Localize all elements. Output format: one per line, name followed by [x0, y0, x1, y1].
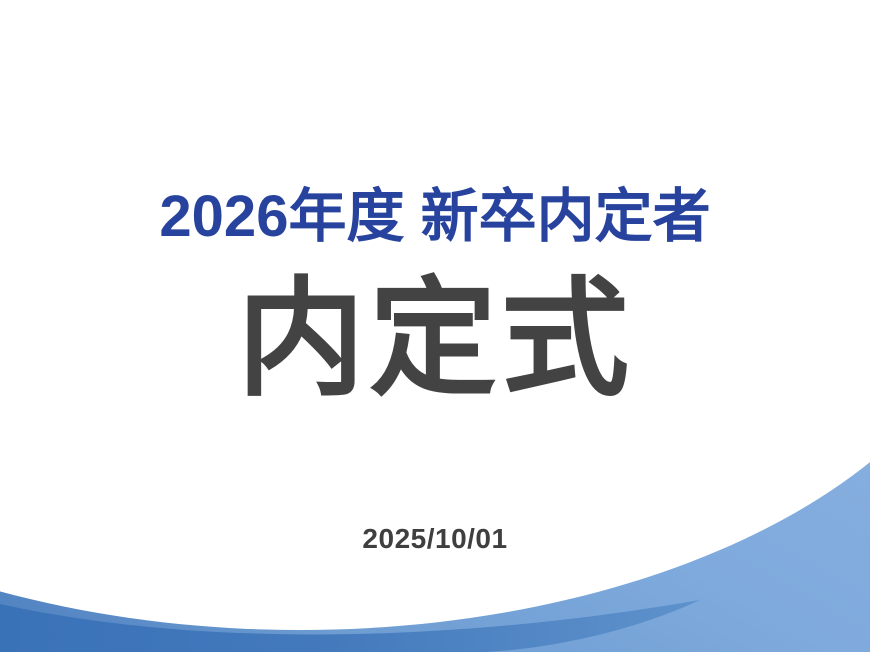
slide-event-date: 2025/10/01 — [0, 522, 870, 556]
slide-subtitle-year-line: 2026年度 新卒内定者 — [0, 186, 870, 247]
slide-text-layer: 2026年度 新卒内定者 内定式 2025/10/01 — [0, 0, 870, 652]
slide-main-heading: 内定式 — [0, 276, 870, 404]
presentation-slide: 2026年度 新卒内定者 内定式 2025/10/01 — [0, 0, 870, 652]
